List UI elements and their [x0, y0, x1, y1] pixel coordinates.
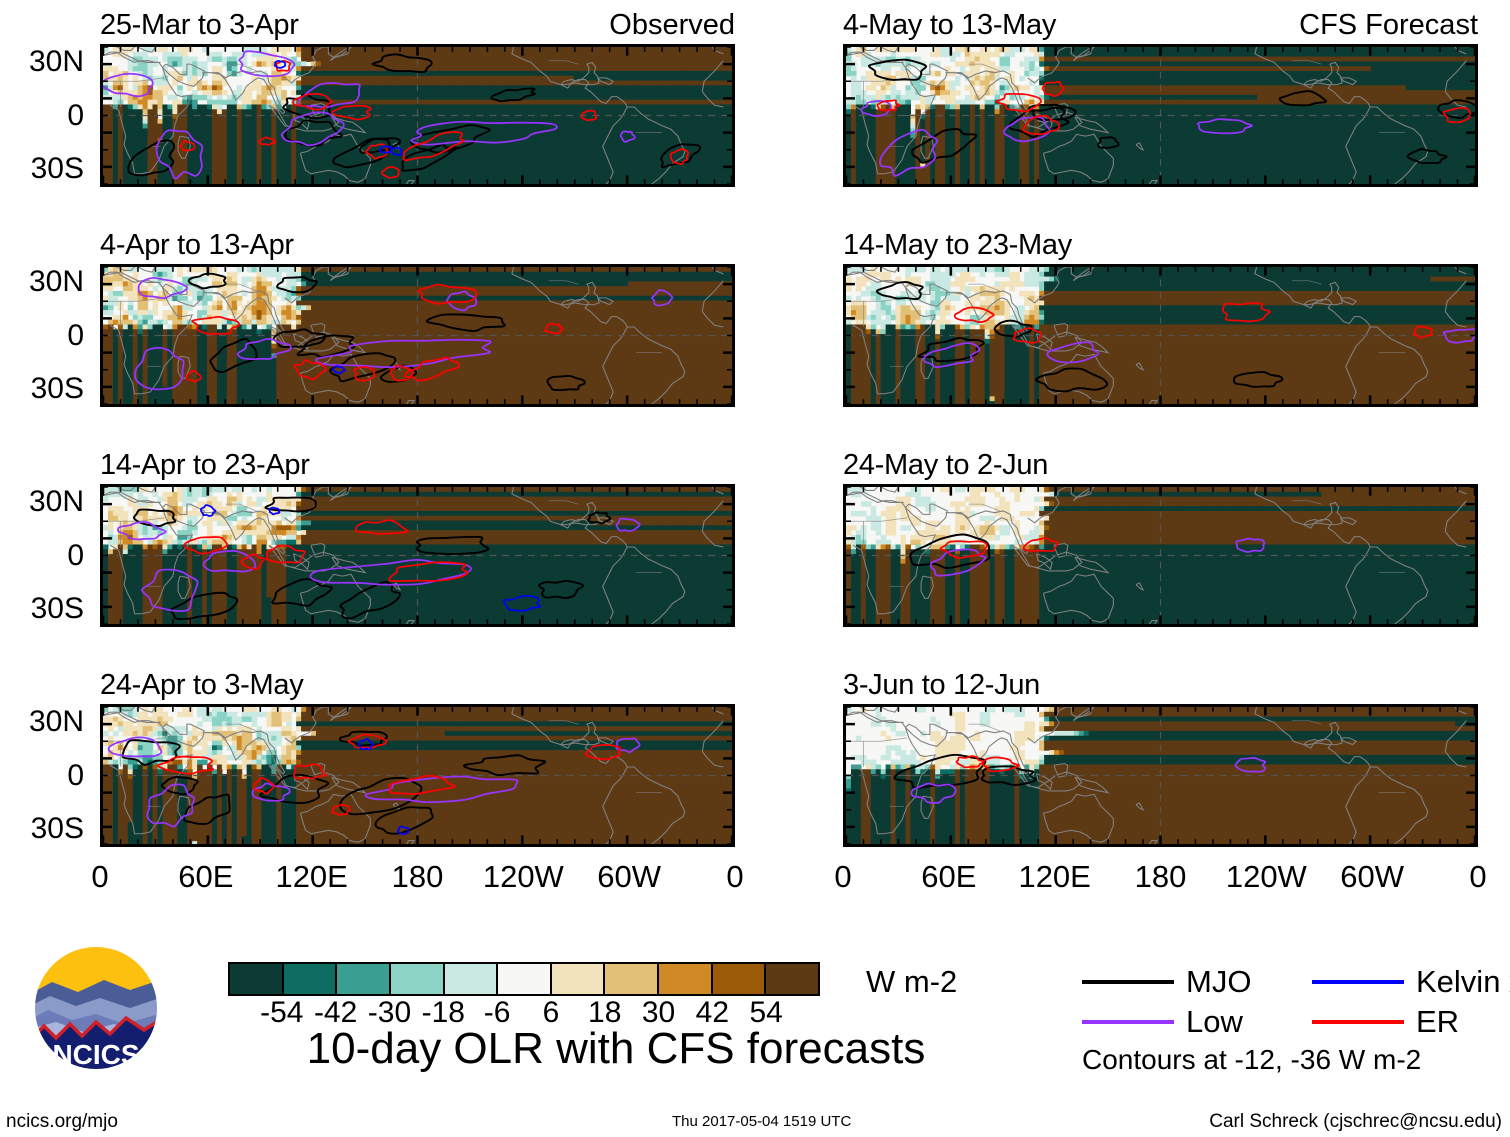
- y-tick-label: 30S: [0, 594, 84, 624]
- x-tick-label: 180: [1135, 861, 1187, 892]
- colorbar-swatch-4: [445, 964, 499, 994]
- colorbar-swatch-2: [337, 964, 391, 994]
- colorbar-units-label: W m-2: [866, 966, 957, 997]
- x-tick-label: 0: [726, 861, 743, 892]
- legend-item-mjo: MJO: [1082, 966, 1251, 997]
- y-tick-label: 30N: [0, 47, 84, 77]
- panel-corner-label-fcst-1: CFS Forecast: [1299, 11, 1478, 40]
- map-fcst-2: [843, 264, 1478, 407]
- map-svg: [103, 707, 732, 844]
- panel-title-obs-1: 25-Mar to 3-Apr: [100, 11, 299, 40]
- panel-title-fcst-2: 14-May to 23-May: [843, 231, 1072, 260]
- y-tick-label: 0: [0, 761, 84, 791]
- map-svg: [846, 487, 1475, 624]
- colorbar-swatch-8: [659, 964, 713, 994]
- y-tick-label: 0: [0, 321, 84, 351]
- x-tick-label: 120E: [275, 861, 347, 892]
- kelvin-line-swatch: [1312, 980, 1404, 984]
- x-tick-label: 120W: [483, 861, 564, 892]
- colorbar-swatch-3: [391, 964, 445, 994]
- legend-item-low: Low: [1082, 1006, 1243, 1037]
- ncics-logo: NCICS: [26, 938, 166, 1078]
- legend-label-mjo: MJO: [1186, 966, 1251, 997]
- x-tick-label: 60W: [597, 861, 661, 892]
- y-tick-label: 30N: [0, 267, 84, 297]
- y-tick-label: 30S: [0, 374, 84, 404]
- map-svg: [846, 47, 1475, 184]
- x-axis-observed: 060E120E180120W60W0: [100, 861, 735, 901]
- x-tick-label: 0: [1469, 861, 1486, 892]
- legend-label-low: Low: [1186, 1006, 1243, 1037]
- x-tick-label: 60W: [1340, 861, 1404, 892]
- map-fcst-1: [843, 44, 1478, 187]
- colorbar-swatch-1: [284, 964, 338, 994]
- legend-label-kelvin: Kelvin x2: [1416, 966, 1510, 997]
- colorbar-swatch-6: [552, 964, 606, 994]
- panel-title-fcst-3: 24-May to 2-Jun: [843, 451, 1048, 480]
- x-axis-forecast: 060E120E180120W60W0: [843, 861, 1478, 901]
- colorbar-swatch-5: [498, 964, 552, 994]
- map-obs-2: [100, 264, 735, 407]
- x-tick-label: 60E: [178, 861, 233, 892]
- low-line-swatch: [1082, 1020, 1174, 1024]
- footer-author: Carl Schreck (cjschrec@ncsu.edu): [1209, 1112, 1502, 1131]
- map-svg: [103, 47, 732, 184]
- page-title: 10-day OLR with CFS forecasts: [236, 1026, 996, 1072]
- er-line-swatch: [1312, 1020, 1404, 1024]
- mjo-line-swatch: [1082, 980, 1174, 984]
- x-tick-label: 0: [91, 861, 108, 892]
- colorbar: [228, 962, 820, 996]
- footer-timestamp: Thu 2017-05-04 1519 UTC: [672, 1112, 851, 1131]
- panel-title-obs-4: 24-Apr to 3-May: [100, 671, 303, 700]
- legend-contour-note: Contours at -12, -36 W m-2: [1082, 1046, 1421, 1074]
- colorbar-swatch-10: [766, 964, 818, 994]
- y-tick-label: 30S: [0, 154, 84, 184]
- x-tick-label: 180: [392, 861, 444, 892]
- colorbar-swatch-0: [230, 964, 284, 994]
- panel-title-fcst-1: 4-May to 13-May: [843, 11, 1056, 40]
- ncics-logo-icon: NCICS: [26, 938, 166, 1078]
- y-tick-label: 0: [0, 541, 84, 571]
- panel-title-obs-2: 4-Apr to 13-Apr: [100, 231, 294, 260]
- y-tick-label: 30S: [0, 814, 84, 844]
- y-tick-label: 0: [0, 101, 84, 131]
- x-tick-label: 60E: [921, 861, 976, 892]
- x-tick-label: 120W: [1226, 861, 1307, 892]
- y-tick-label: 30N: [0, 487, 84, 517]
- panel-title-obs-3: 14-Apr to 23-Apr: [100, 451, 310, 480]
- map-fcst-3: [843, 484, 1478, 627]
- map-fcst-4: [843, 704, 1478, 847]
- map-svg: [103, 487, 732, 624]
- ncics-logo-text: NCICS: [52, 1039, 139, 1070]
- map-obs-4: [100, 704, 735, 847]
- panel-title-fcst-4: 3-Jun to 12-Jun: [843, 671, 1040, 700]
- map-svg: [846, 707, 1475, 844]
- map-svg: [103, 267, 732, 404]
- x-tick-label: 120E: [1018, 861, 1090, 892]
- panel-corner-label-obs-1: Observed: [609, 11, 735, 40]
- colorbar-tick-label: -54: [260, 998, 303, 1028]
- colorbar-swatch-9: [713, 964, 767, 994]
- legend-item-er: ER: [1312, 1006, 1459, 1037]
- map-obs-3: [100, 484, 735, 627]
- map-svg: [846, 267, 1475, 404]
- y-tick-label: 30N: [0, 707, 84, 737]
- colorbar-swatch-7: [605, 964, 659, 994]
- legend-label-er: ER: [1416, 1006, 1459, 1037]
- x-tick-label: 0: [834, 861, 851, 892]
- footer-link[interactable]: ncics.org/mjo: [6, 1112, 118, 1131]
- legend-item-kelvin: Kelvin x2: [1312, 966, 1510, 997]
- map-obs-1: [100, 44, 735, 187]
